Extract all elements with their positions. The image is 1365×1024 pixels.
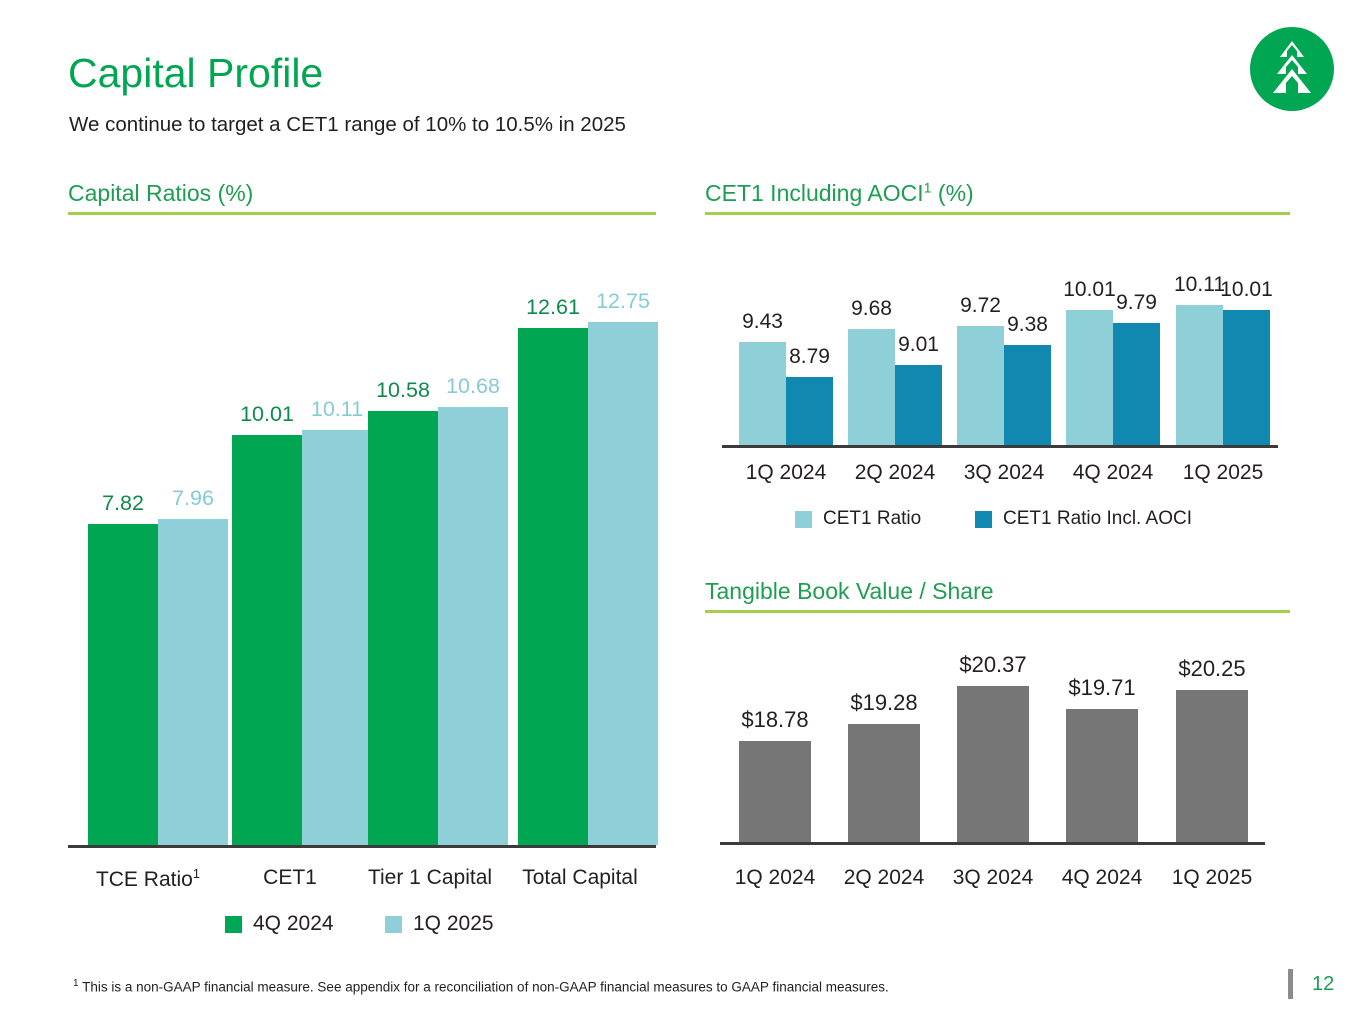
bar-tbv-2q-2024: [848, 724, 920, 842]
x-label-cet1-1q-2025: 1Q 2025: [1143, 461, 1303, 485]
bar-capital-ratios-1q-2025-cet1: [302, 430, 372, 845]
bar-label-cet1-cet1-ratio-incl-aoci-2q-2024: 9.01: [883, 333, 954, 357]
bar-cet1-cet1-ratio-incl-aoci-3q-2024: [1004, 345, 1051, 445]
x-label-total-capital: Total Capital: [480, 866, 680, 890]
bar-label-tbv-1q-2024: $18.78: [714, 707, 836, 733]
slide-capital-profile: Capital Profile We continue to target a …: [0, 0, 1365, 1024]
bar-capital-ratios-1q-2025-total-capital: [588, 322, 658, 845]
bar-cet1-cet1-ratio-incl-aoci-2q-2024: [895, 365, 942, 445]
section-header-tbv: Tangible Book Value / Share: [705, 578, 994, 605]
section-rule-capital-ratios: [68, 212, 656, 215]
bar-capital-ratios-4q-2024-total-capital: [518, 328, 588, 845]
legend-swatch-icon: [795, 511, 812, 528]
section-rule-cet1-aoci: [705, 212, 1290, 215]
bar-cet1-cet1-ratio-4q-2024: [1066, 310, 1113, 445]
bar-label-tbv-1q-2025: $20.25: [1151, 656, 1273, 682]
legend-item-1q-2025[interactable]: 1Q 2025: [385, 912, 494, 936]
bar-cet1-cet1-ratio-3q-2024: [957, 326, 1004, 445]
section-header-cet1-aoci-tail: (%): [932, 180, 974, 206]
section-header-cet1-aoci-main: CET1 Including AOCI: [705, 180, 924, 206]
bar-label-capital-ratios-1q-2025-tier-1-capital: 10.68: [426, 374, 520, 399]
bar-cet1-cet1-ratio-incl-aoci-1q-2025: [1223, 310, 1270, 445]
bar-label-cet1-cet1-ratio-1q-2024: 9.43: [727, 310, 798, 334]
section-header-cet1-aoci-superscript: 1: [924, 180, 932, 196]
x-label-tbv-1q-2025: 1Q 2025: [1132, 866, 1292, 890]
bar-tbv-1q-2025: [1176, 690, 1248, 842]
legend-label: CET1 Ratio: [823, 508, 921, 530]
bar-capital-ratios-4q-2024-tier-1-capital: [368, 411, 438, 845]
legend-item-cet1-ratio[interactable]: CET1 Ratio: [795, 508, 921, 530]
bar-label-cet1-cet1-ratio-incl-aoci-1q-2024: 8.79: [774, 345, 845, 369]
bar-capital-ratios-4q-2024-cet1: [232, 435, 302, 845]
x-axis-line-capital-ratios: [68, 845, 656, 848]
page-number-divider: [1288, 969, 1293, 999]
evergreen-tree-logo-icon: [1250, 27, 1334, 111]
bar-tbv-3q-2024: [957, 686, 1029, 842]
section-rule-tbv: [705, 610, 1290, 613]
bar-tbv-1q-2024: [739, 741, 811, 842]
bar-label-cet1-cet1-ratio-2q-2024: 9.68: [836, 297, 907, 321]
bar-label-tbv-2q-2024: $19.28: [823, 690, 945, 716]
legend-label: 4Q 2024: [253, 912, 334, 936]
bar-label-cet1-cet1-ratio-incl-aoci-4q-2024: 9.79: [1101, 291, 1172, 315]
bar-label-tbv-3q-2024: $20.37: [932, 652, 1054, 678]
bar-tbv-4q-2024: [1066, 709, 1138, 842]
legend-item-4q-2024[interactable]: 4Q 2024: [225, 912, 334, 936]
section-header-capital-ratios: Capital Ratios (%): [68, 180, 253, 207]
legend-swatch-icon: [385, 916, 402, 933]
legend-label: CET1 Ratio Incl. AOCI: [1003, 508, 1192, 530]
page-subtitle: We continue to target a CET1 range of 10…: [69, 113, 626, 137]
bar-cet1-cet1-ratio-incl-aoci-1q-2024: [786, 377, 833, 445]
bar-cet1-cet1-ratio-incl-aoci-4q-2024: [1113, 323, 1160, 446]
bar-capital-ratios-1q-2025-tce-ratio: [158, 519, 228, 845]
bar-label-capital-ratios-1q-2025-tce-ratio: 7.96: [146, 486, 240, 511]
page-number: 12: [1312, 973, 1334, 996]
bar-label-cet1-cet1-ratio-incl-aoci-3q-2024: 9.38: [992, 313, 1063, 337]
page-title: Capital Profile: [68, 50, 323, 97]
footnote-text: This is a non-GAAP financial measure. Se…: [79, 980, 889, 995]
bar-cet1-cet1-ratio-1q-2025: [1176, 305, 1223, 445]
bar-capital-ratios-4q-2024-tce-ratio: [88, 524, 158, 845]
section-header-cet1-aoci: CET1 Including AOCI1 (%): [705, 180, 974, 207]
legend-label: 1Q 2025: [413, 912, 494, 936]
x-axis-line-cet1: [722, 445, 1278, 448]
x-axis-line-tbv: [720, 842, 1265, 845]
footnote: 1 This is a non-GAAP financial measure. …: [73, 978, 889, 995]
legend-item-cet1-ratio-incl-aoci[interactable]: CET1 Ratio Incl. AOCI: [975, 508, 1192, 530]
bar-label-tbv-4q-2024: $19.71: [1041, 675, 1163, 701]
bar-capital-ratios-1q-2025-tier-1-capital: [438, 407, 508, 845]
legend-swatch-icon: [975, 511, 992, 528]
bar-label-cet1-cet1-ratio-incl-aoci-1q-2025: 10.01: [1211, 278, 1282, 302]
legend-swatch-icon: [225, 916, 242, 933]
bar-label-capital-ratios-1q-2025-total-capital: 12.75: [576, 289, 670, 314]
